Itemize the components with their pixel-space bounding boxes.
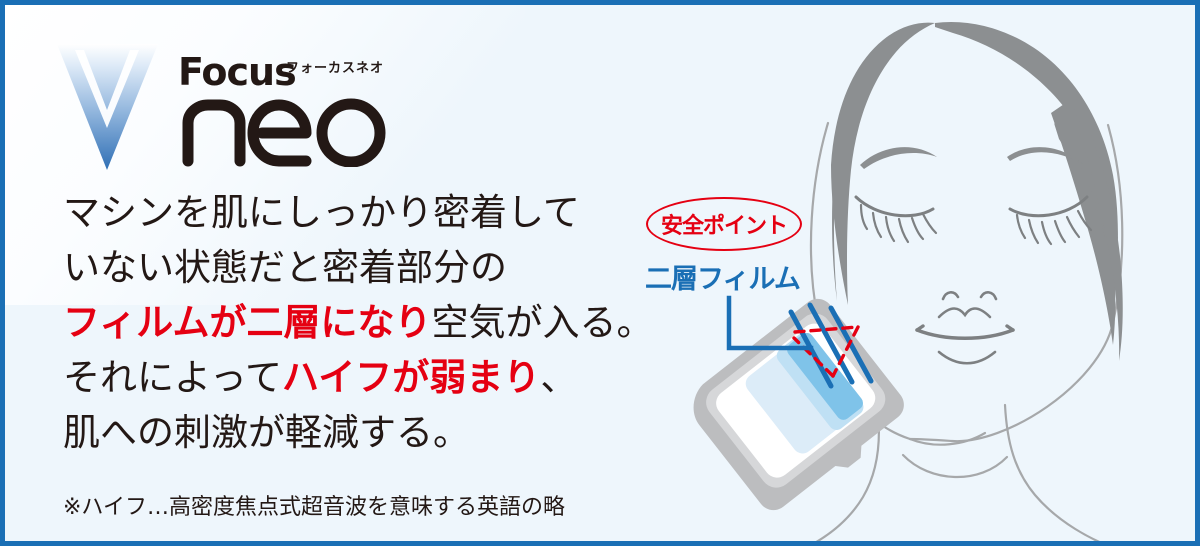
film-leader-line-layer xyxy=(5,5,1200,546)
film-leader-line xyxy=(729,298,811,348)
promo-banner: Focus フォーカスネオ マシンを肌にしっかり密着して いない状態だと密着部分… xyxy=(0,0,1200,546)
